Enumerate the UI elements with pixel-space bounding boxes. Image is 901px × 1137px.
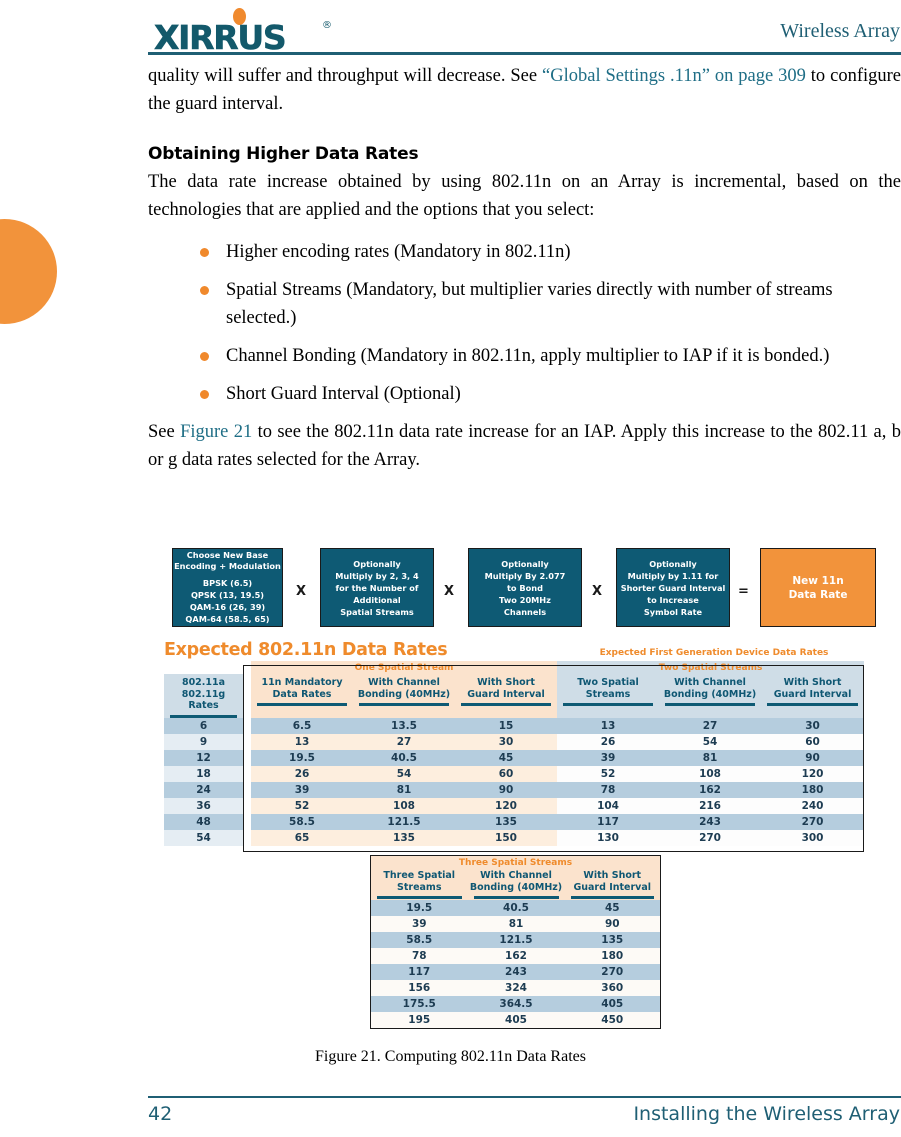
cell: 162: [468, 948, 565, 964]
see-text-before: See: [148, 422, 180, 442]
table-row: 18 26 54 60 52 108 120: [164, 766, 864, 782]
cell: 270: [761, 814, 864, 830]
cell: 180: [565, 948, 661, 964]
cell: 48: [164, 814, 243, 830]
table-row: 117 243 270: [371, 964, 661, 980]
column-header-0-line2: Rates: [188, 700, 218, 711]
column-header-0-line2: Streams: [397, 882, 441, 893]
column-header-2-line1: With Channel: [368, 677, 440, 688]
intro-paragraph: quality will suffer and throughput will …: [148, 62, 901, 118]
column-header-0-line1: 802.11a 802.11g: [182, 677, 225, 700]
cell: 19.5: [371, 900, 468, 916]
column-header-1: With Channel Bonding (40MHz): [468, 870, 565, 900]
table-row: 19.5 40.5 45: [371, 900, 661, 916]
column-header-1-line1: With Channel: [480, 870, 552, 881]
flow-box-3-text: Optionally Multiply By 2.077 to Bond Two…: [485, 558, 566, 618]
cell: 78: [557, 782, 659, 798]
cell: 15: [455, 718, 557, 734]
group-label-three-spatial-streams: Three Spatial Streams: [371, 856, 661, 871]
table-row: 39 81 90: [371, 916, 661, 932]
intro-text-before: quality will suffer and throughput will …: [148, 66, 542, 86]
table-row: 58.5 121.5 135: [371, 932, 661, 948]
column-header-4-line1: Two Spatial: [577, 677, 639, 688]
cell: 58.5: [251, 814, 353, 830]
header-underline: [474, 896, 559, 899]
column-header-4: Two Spatial Streams: [557, 674, 659, 718]
cell: 45: [455, 750, 557, 766]
column-header-0: 802.11a 802.11g Rates: [164, 674, 243, 718]
cell: 13: [557, 718, 659, 734]
cell: 18: [164, 766, 243, 782]
header-underline: [461, 703, 551, 706]
cell: 117: [557, 814, 659, 830]
cell: 135: [565, 932, 661, 948]
group-label-two-spatial-streams: Two Spatial Streams: [557, 661, 864, 674]
cell: 117: [371, 964, 468, 980]
header-title: Wireless Array: [780, 20, 900, 43]
cell: 300: [761, 830, 864, 846]
header-underline: [665, 703, 755, 706]
table-row: 12 19.5 40.5 45 39 81 90: [164, 750, 864, 766]
cell: 9: [164, 734, 243, 750]
header-underline: [377, 896, 462, 899]
column-header-0: Three Spatial Streams: [371, 870, 468, 900]
table-header-row: 802.11a 802.11g Rates 11n Mandatory Data…: [164, 674, 864, 718]
cell: 26: [251, 766, 353, 782]
flow-box-guard-interval: Optionally Multiply by 1.11 for Shorter …: [616, 548, 730, 627]
cell: 39: [371, 916, 468, 932]
cell: 240: [761, 798, 864, 814]
cell: 270: [565, 964, 661, 980]
cell: 150: [455, 830, 557, 846]
bullet-list: Higher encoding rates (Mandatory in 802.…: [148, 238, 901, 408]
cell: 243: [659, 814, 761, 830]
operator-equals: =: [738, 584, 749, 599]
cross-reference-link-figure-21[interactable]: Figure 21: [180, 422, 252, 442]
column-header-6-line1: With Short: [784, 677, 842, 688]
footer-page-number: 42: [148, 1103, 172, 1125]
column-header-2: With Channel Bonding (40MHz): [353, 674, 455, 718]
column-header-6: With Short Guard Interval: [761, 674, 864, 718]
figure-caption: Figure 21. Computing 802.11n Data Rates: [0, 1048, 901, 1066]
cell: 120: [761, 766, 864, 782]
column-header-5: With Channel Bonding (40MHz): [659, 674, 761, 718]
cell: 30: [455, 734, 557, 750]
column-header-2: With Short Guard Interval: [565, 870, 661, 900]
cell: 135: [455, 814, 557, 830]
cell: 81: [468, 916, 565, 932]
list-item-label: Channel Bonding (Mandatory in 802.11n, a…: [226, 346, 829, 366]
column-header-2-line2: Guard Interval: [573, 882, 651, 893]
cell: 405: [565, 996, 661, 1012]
cell: 78: [371, 948, 468, 964]
document-page: XIRRUS ® Wireless Array quality will suf…: [0, 0, 901, 1137]
table-row: 24 39 81 90 78 162 180: [164, 782, 864, 798]
cell: 26: [557, 734, 659, 750]
header-divider: [148, 52, 901, 55]
cell: 120: [455, 798, 557, 814]
logo-trademark-icon: ®: [322, 20, 332, 31]
computation-flow-diagram: Choose New Base Encoding + Modulation BP…: [148, 544, 901, 632]
cell: 60: [455, 766, 557, 782]
table-subtitle: Expected First Generation Device Data Ra…: [407, 648, 901, 658]
cell: 156: [371, 980, 468, 996]
cell: 40.5: [468, 900, 565, 916]
table-row: 175.5 364.5 405: [371, 996, 661, 1012]
column-header-2-line2: Bonding (40MHz): [358, 689, 450, 700]
see-figure-paragraph: See Figure 21 to see the 802.11n data ra…: [148, 418, 901, 474]
table-row: 48 58.5 121.5 135 117 243 270: [164, 814, 864, 830]
cell: 27: [659, 718, 761, 734]
cell: 36: [164, 798, 243, 814]
bullet-icon: [200, 286, 209, 295]
flow-box-1-values: BPSK (6.5) QPSK (13, 19.5) QAM-16 (26, 3…: [185, 577, 269, 625]
cell: 13.5: [353, 718, 455, 734]
page-edge-tab-decoration: [0, 219, 57, 324]
column-header-4-line2: Streams: [586, 689, 630, 700]
cell: 24: [164, 782, 243, 798]
cell: 324: [468, 980, 565, 996]
table-group-row: One Spatial Stream Two Spatial Streams: [164, 661, 864, 674]
cell: 135: [353, 830, 455, 846]
column-header-1: 11n Mandatory Data Rates: [251, 674, 353, 718]
cell: 65: [251, 830, 353, 846]
see-text-after: to see the 802.11n data rate increase fo…: [148, 422, 901, 470]
column-header-0-line1: Three Spatial: [383, 870, 455, 881]
cell: 52: [251, 798, 353, 814]
column-header-3-line1: With Short: [477, 677, 535, 688]
column-header-2-line1: With Short: [583, 870, 641, 881]
flow-box-channel-bonding: Optionally Multiply By 2.077 to Bond Two…: [468, 548, 582, 627]
table-row: 195 405 450: [371, 1012, 661, 1029]
flow-box-2-text: Optionally Multiply by 2, 3, 4 for the N…: [335, 558, 418, 618]
cell: 45: [565, 900, 661, 916]
header-underline: [257, 703, 347, 706]
cell: 130: [557, 830, 659, 846]
cell: 405: [468, 1012, 565, 1029]
table-row: 6 6.5 13.5 15 13 27 30: [164, 718, 864, 734]
column-header-6-line2: Guard Interval: [774, 689, 852, 700]
cell: 27: [353, 734, 455, 750]
cell: 104: [557, 798, 659, 814]
cell: 450: [565, 1012, 661, 1029]
header-underline: [571, 896, 655, 899]
body-column: quality will suffer and throughput will …: [148, 62, 901, 474]
table-group-row: Three Spatial Streams: [371, 856, 661, 871]
bullet-icon: [200, 248, 209, 257]
table-row: 156 324 360: [371, 980, 661, 996]
cell: 180: [761, 782, 864, 798]
list-item-label: Higher encoding rates (Mandatory in 802.…: [226, 242, 571, 262]
cell: 13: [251, 734, 353, 750]
cell: 54: [659, 734, 761, 750]
header-underline: [359, 703, 449, 706]
xirrus-logo: XIRRUS ®: [154, 8, 336, 46]
cell: 81: [659, 750, 761, 766]
cell: 364.5: [468, 996, 565, 1012]
operator-multiply-1: X: [296, 584, 306, 599]
footer-text: Installing the Wireless Array: [633, 1103, 900, 1125]
cell: 58.5: [371, 932, 468, 948]
column-header-1-line1: 11n Mandatory: [261, 677, 342, 688]
page-header: XIRRUS ® Wireless Array: [148, 4, 901, 56]
cell: 90: [761, 750, 864, 766]
data-rates-table: One Spatial Stream Two Spatial Streams 8…: [164, 661, 864, 846]
cross-reference-link-global-settings[interactable]: “Global Settings .11n” on page 309: [542, 66, 806, 86]
column-header-1-line2: Bonding (40MHz): [470, 882, 562, 893]
table-header-row: Three Spatial Streams With Channel Bondi…: [371, 870, 661, 900]
footer-divider: [148, 1096, 901, 1098]
cell: 30: [761, 718, 864, 734]
cell: 360: [565, 980, 661, 996]
flow-box-spatial-streams: Optionally Multiply by 2, 3, 4 for the N…: [320, 548, 434, 627]
bullet-icon: [200, 352, 209, 361]
cell: 108: [353, 798, 455, 814]
cell: 40.5: [353, 750, 455, 766]
cell: 60: [761, 734, 864, 750]
column-header-3-line2: Guard Interval: [467, 689, 545, 700]
column-header-5-line2: Bonding (40MHz): [664, 689, 756, 700]
flow-box-base-encoding: Choose New Base Encoding + Modulation BP…: [172, 548, 283, 627]
cell: 52: [557, 766, 659, 782]
list-item: Short Guard Interval (Optional): [148, 380, 901, 408]
cell: 121.5: [468, 932, 565, 948]
operator-multiply-3: X: [592, 584, 602, 599]
column-header-1-line2: Data Rates: [273, 689, 332, 700]
header-underline: [563, 703, 653, 706]
cell: 6: [164, 718, 243, 734]
column-header-3: With Short Guard Interval: [455, 674, 557, 718]
table-row: 78 162 180: [371, 948, 661, 964]
flow-result-text: New 11n Data Rate: [789, 574, 848, 602]
cell: 19.5: [251, 750, 353, 766]
flow-box-1-title: Choose New Base Encoding + Modulation: [173, 550, 282, 572]
cell: 121.5: [353, 814, 455, 830]
table-row: 54 65 135 150 130 270 300: [164, 830, 864, 846]
list-item: Higher encoding rates (Mandatory in 802.…: [148, 238, 901, 266]
cell: 243: [468, 964, 565, 980]
list-item: Channel Bonding (Mandatory in 802.11n, a…: [148, 342, 901, 370]
bullet-icon: [200, 390, 209, 399]
cell: 270: [659, 830, 761, 846]
cell: 175.5: [371, 996, 468, 1012]
data-rates-table-block: Expected 802.11n Data Rates Expected Fir…: [164, 640, 864, 846]
list-item-label: Short Guard Interval (Optional): [226, 384, 461, 404]
flow-box-4-text: Optionally Multiply by 1.11 for Shorter …: [621, 558, 726, 618]
table-row: 9 13 27 30 26 54 60: [164, 734, 864, 750]
table-row: 36 52 108 120 104 216 240: [164, 798, 864, 814]
cell: 195: [371, 1012, 468, 1029]
group-label-one-spatial-stream: One Spatial Stream: [251, 661, 557, 674]
section-paragraph: The data rate increase obtained by using…: [148, 168, 901, 224]
three-spatial-streams-table: Three Spatial Streams Three Spatial Stre…: [370, 855, 661, 1029]
list-item: Spatial Streams (Mandatory, but multipli…: [148, 276, 901, 332]
operator-multiply-2: X: [444, 584, 454, 599]
three-spatial-streams-table-block: Three Spatial Streams Three Spatial Stre…: [370, 855, 660, 1029]
cell: 39: [251, 782, 353, 798]
header-underline: [767, 703, 858, 706]
cell: 108: [659, 766, 761, 782]
flow-box-result: New 11n Data Rate: [760, 548, 876, 627]
cell: 90: [565, 916, 661, 932]
cell: 81: [353, 782, 455, 798]
column-header-5-line1: With Channel: [674, 677, 746, 688]
list-item-label: Spatial Streams (Mandatory, but multipli…: [226, 280, 833, 328]
cell: 162: [659, 782, 761, 798]
section-heading: Obtaining Higher Data Rates: [148, 144, 901, 164]
cell: 54: [353, 766, 455, 782]
cell: 90: [455, 782, 557, 798]
cell: 54: [164, 830, 243, 846]
cell: 6.5: [251, 718, 353, 734]
cell: 12: [164, 750, 243, 766]
cell: 216: [659, 798, 761, 814]
cell: 39: [557, 750, 659, 766]
